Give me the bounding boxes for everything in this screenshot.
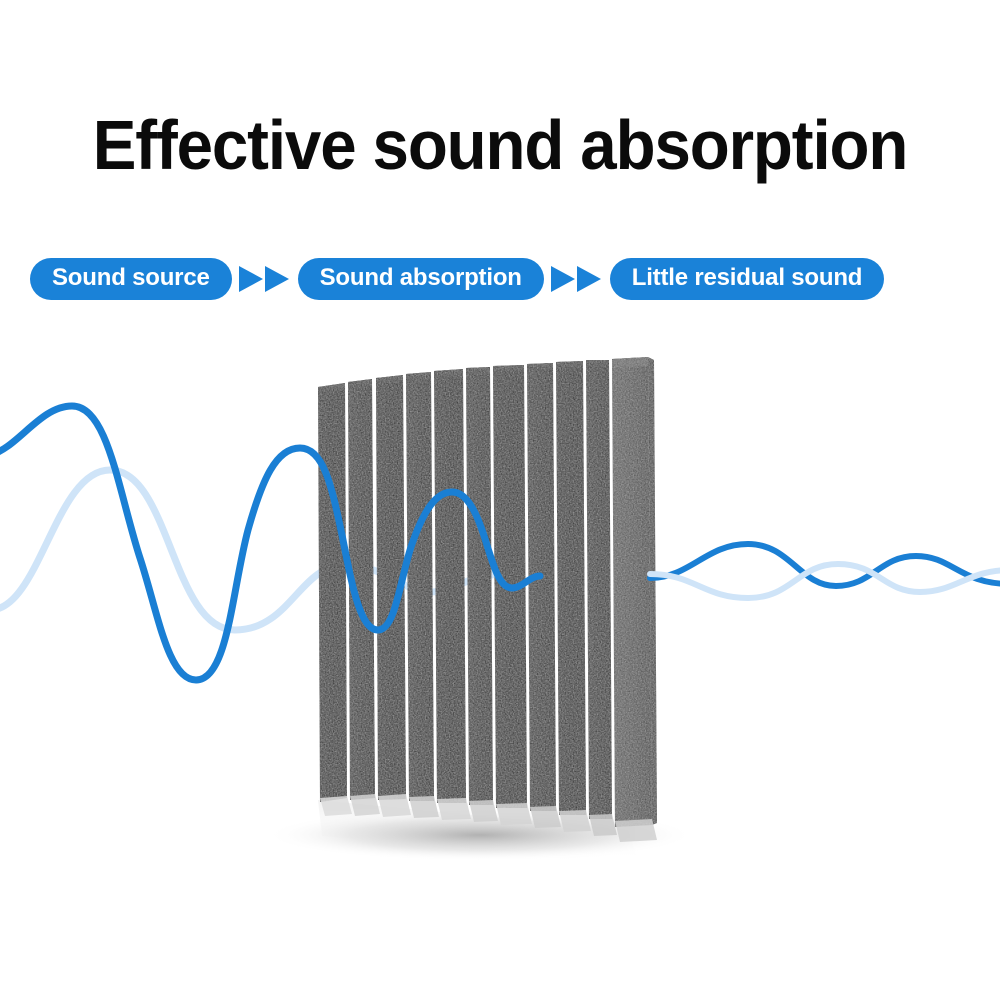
- poster-canvas: Effective sound absorption Sound source …: [0, 0, 1000, 1000]
- badge-sound-source-label: Sound source: [52, 264, 210, 292]
- residual-sound-wave-secondary: [650, 564, 1000, 598]
- page-title: Effective sound absorption: [33, 108, 968, 182]
- double-chevron-right-icon: [232, 258, 298, 300]
- double-chevron-right-icon-2: [544, 258, 610, 300]
- process-flow-row: Sound source Sound absorption Little res…: [30, 255, 970, 303]
- badge-little-residual-sound[interactable]: Little residual sound: [610, 258, 885, 300]
- badge-sound-absorption[interactable]: Sound absorption: [298, 258, 544, 300]
- badge-sound-absorption-label: Sound absorption: [320, 264, 522, 292]
- badge-sound-source[interactable]: Sound source: [30, 258, 232, 300]
- residual-sound-waves: [0, 330, 1000, 930]
- badge-little-residual-sound-label: Little residual sound: [632, 264, 863, 292]
- product-illustration: [0, 330, 1000, 930]
